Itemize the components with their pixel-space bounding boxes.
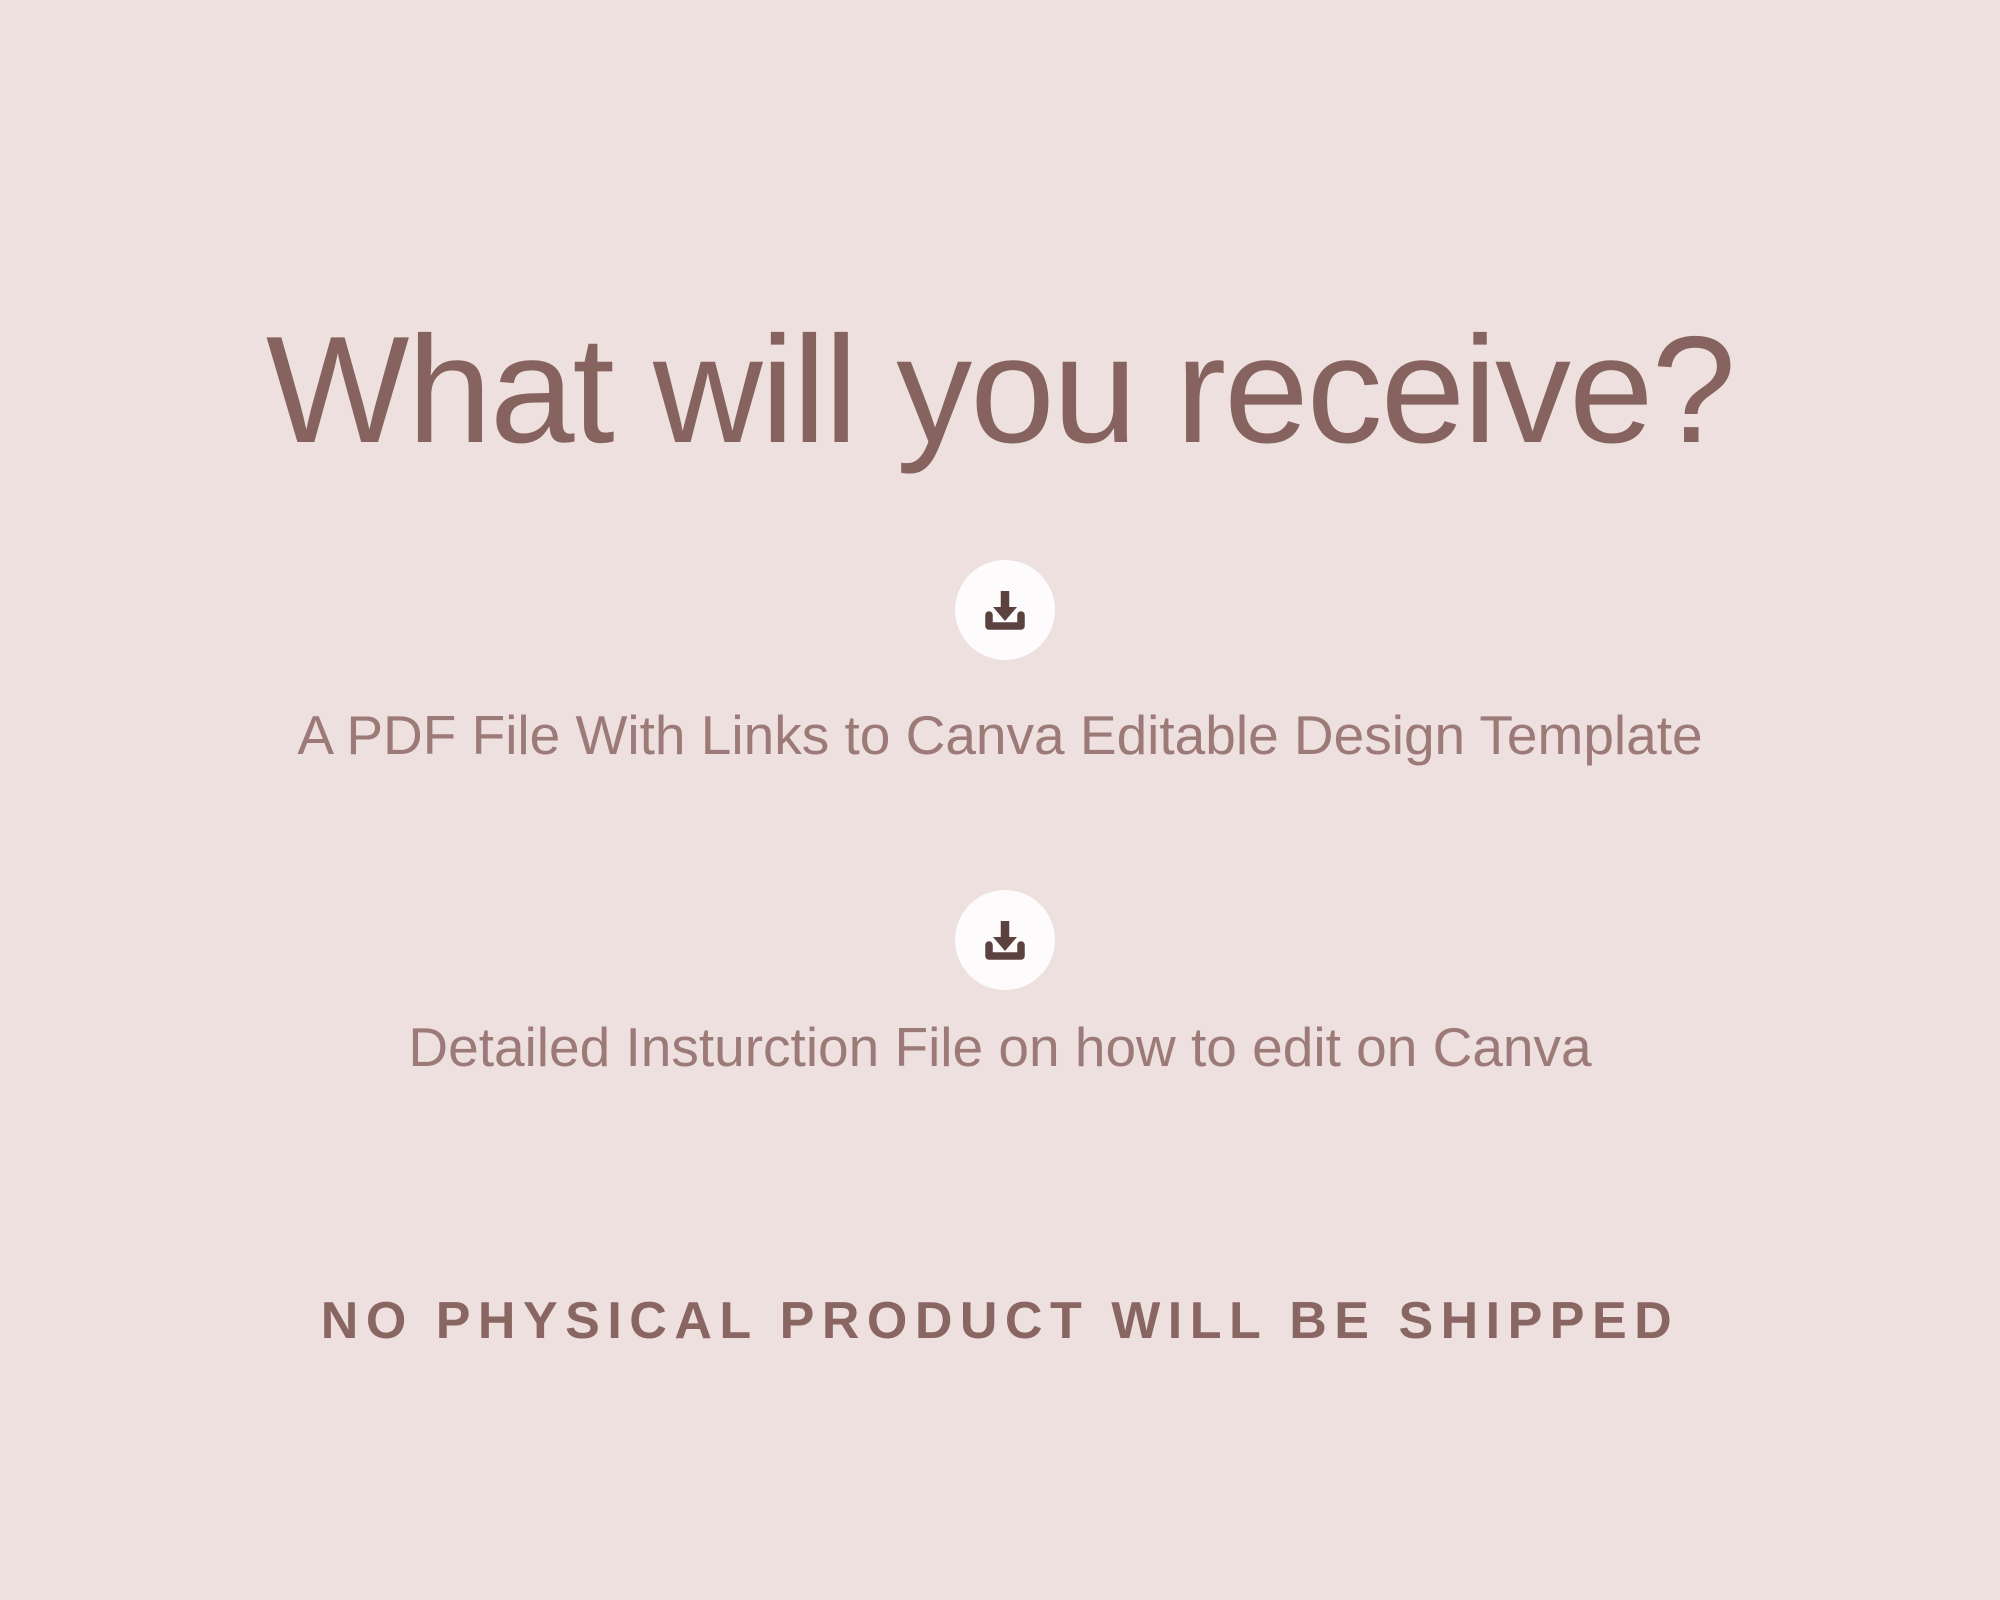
promo-slide: What will you receive? A PDF File With L…: [0, 0, 2000, 1600]
receive-item-label-1: A PDF File With Links to Canva Editable …: [0, 700, 2000, 772]
download-icon: [978, 583, 1032, 637]
download-icon-badge-1: [955, 560, 1055, 660]
download-icon-badge-2: [955, 890, 1055, 990]
page-title: What will you receive?: [0, 290, 2000, 491]
download-icon: [978, 913, 1032, 967]
no-physical-product-note: NO PHYSICAL PRODUCT WILL BE SHIPPED: [0, 1288, 2000, 1356]
receive-item-label-2: Detailed Insturction File on how to edit…: [0, 1012, 2000, 1084]
